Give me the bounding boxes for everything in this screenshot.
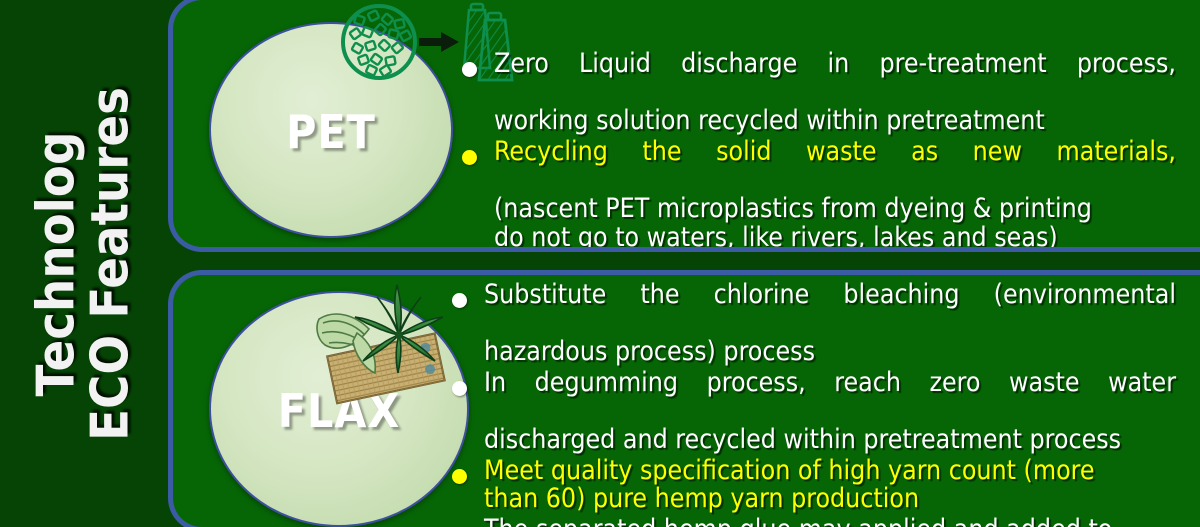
bullet-line: Substitute the chlorine bleaching (envir… xyxy=(484,281,1176,338)
sidebar: Technolog ECO Features xyxy=(0,0,168,527)
bullet-item: Recycling the solid waste as new materia… xyxy=(458,138,1176,252)
bullet-item: Meet quality specification of high yarn … xyxy=(448,457,1176,514)
bullet-dot-icon xyxy=(452,293,467,308)
bullet-text: In degumming process, reach zero waste w… xyxy=(484,369,1176,455)
sidebar-title-line-1: Technolog xyxy=(30,0,84,527)
circle-label-pet: PET xyxy=(286,105,376,159)
bullet-item: Substitute the chlorine bleaching (envir… xyxy=(448,281,1176,367)
bullet-line-highlight: Meet quality specification of high yarn … xyxy=(484,457,1176,486)
arrow-icon xyxy=(419,32,459,52)
sidebar-title-wrap: Technolog ECO Features xyxy=(0,0,168,527)
bullet-dot-icon xyxy=(452,381,467,396)
bullet-line-highlight: Recycling the solid waste as new materia… xyxy=(494,138,1176,195)
panel-pet[interactable]: PET xyxy=(168,0,1200,252)
bullet-text-highlight: Meet quality specification of high yarn … xyxy=(484,457,1176,514)
bullet-dot-icon xyxy=(462,150,477,165)
bullet-list-flax: Substitute the chlorine bleaching (envir… xyxy=(448,281,1176,527)
bullet-line: In degumming process, reach zero waste w… xyxy=(484,369,1176,426)
bullet-list-pet: Zero Liquid discharge in pre-treatment p… xyxy=(458,50,1176,252)
bullet-line-highlight: than 60) pure hemp yarn production xyxy=(484,485,1176,514)
bullet-dot-icon xyxy=(462,62,477,77)
bullet-item: Zero Liquid discharge in pre-treatment p… xyxy=(458,50,1176,136)
bullet-line: (nascent PET microplastics from dyeing &… xyxy=(494,195,1176,224)
bullet-text: The separated hemp glue may applied and … xyxy=(484,516,1176,527)
bullet-line: Zero Liquid discharge in pre-treatment p… xyxy=(494,50,1176,107)
bullet-text: Zero Liquid discharge in pre-treatment p… xyxy=(494,50,1176,136)
bullet-line: working solution recycled within pretrea… xyxy=(494,107,1176,136)
bullet-item: The separated hemp glue may applied and … xyxy=(448,516,1176,527)
bullet-line: do not go to waters, like rivers, lakes … xyxy=(494,224,1176,252)
bullet-text: Substitute the chlorine bleaching (envir… xyxy=(484,281,1176,367)
slide-root: Technolog ECO Features PET xyxy=(0,0,1200,527)
sidebar-title-line-2: ECO Features xyxy=(84,0,138,527)
bullet-line: hazardous process) process xyxy=(484,338,1176,367)
bullet-text: Recycling the solid waste as new materia… xyxy=(494,138,1176,252)
bullet-dot-icon xyxy=(452,469,467,484)
sidebar-title-rotated: Technolog ECO Features xyxy=(30,0,137,527)
bullet-line: The separated hemp glue may applied and … xyxy=(484,516,1176,527)
bullet-item: In degumming process, reach zero waste w… xyxy=(448,369,1176,455)
panel-flax[interactable]: FLAX xyxy=(168,270,1200,527)
bullet-line: discharged and recycled within pretreatm… xyxy=(484,426,1176,455)
